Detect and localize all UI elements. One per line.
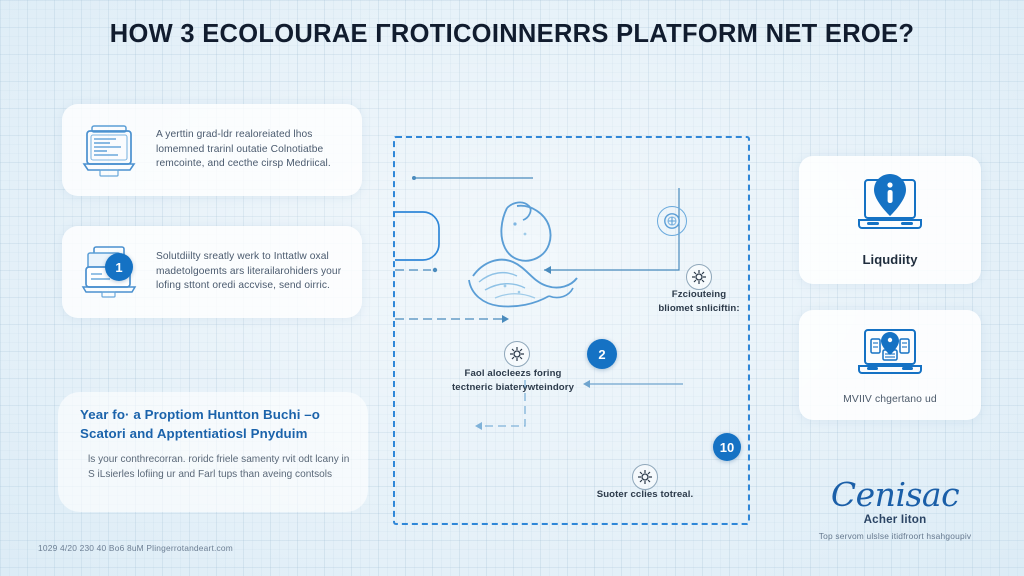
brand-wordmark: Cenisac bbox=[790, 478, 1000, 511]
step-badge-1: 1 bbox=[105, 253, 133, 281]
brand-tagline: Top servom ulslse itidfroort hsahgoupiv bbox=[790, 531, 1000, 541]
left-info-card-1-text: A yerttin grad-ldr realoreiated lhos lom… bbox=[156, 128, 350, 172]
step-badge-2: 2 bbox=[587, 339, 617, 369]
left-info-card-2-text: Solutdiilty sreatly werk to Inttatlw oxa… bbox=[156, 250, 350, 294]
right-info-card-network-label: MVIIV chgertano ud bbox=[843, 394, 937, 405]
page-title: HOW 3 ECOLOURAE ΓROTICOINNERRS PLATFORM … bbox=[0, 20, 1024, 49]
brand-logo: Cenisac Acher Iiton Top servom ulslse it… bbox=[790, 478, 1000, 541]
left-highlight-heading: Year fo· a Proptiom Huntton Buchi –o Sca… bbox=[80, 406, 350, 444]
brand-subtitle: Acher Iiton bbox=[790, 513, 1000, 526]
infographic-canvas: HOW 3 ECOLOURAE ΓROTICOINNERRS PLATFORM … bbox=[0, 0, 1024, 576]
gear-network-icon-2 bbox=[504, 341, 530, 367]
right-info-card-liquidity[interactable]: Liqudiity bbox=[799, 156, 981, 284]
left-highlight-body: ls your conthrecorran. roridc friele sam… bbox=[88, 452, 350, 482]
laptop-document-icon bbox=[76, 117, 142, 183]
left-info-card-1[interactable]: A yerttin grad-ldr realoreiated lhos lom… bbox=[62, 104, 362, 196]
laptop-network-pin-icon bbox=[851, 326, 929, 387]
footer-url[interactable]: 1029 4/20 230 40 Bo6 8uM Plingerrotandea… bbox=[38, 543, 233, 553]
gear-network-icon-3 bbox=[632, 464, 658, 490]
abstract-line-art bbox=[455, 190, 615, 320]
left-highlight-block: Year fo· a Proptiom Huntton Buchi –o Sca… bbox=[58, 392, 368, 512]
right-info-card-network[interactable]: MVIIV chgertano ud bbox=[799, 310, 981, 420]
flow-label-3: Suoter cclies totreal. bbox=[575, 488, 715, 502]
gear-network-icon-1 bbox=[686, 264, 712, 290]
flow-label-2: Faol alocleezs foring tectneric biateryw… bbox=[433, 367, 593, 395]
laptop-pin-info-icon bbox=[851, 174, 929, 245]
coin-emblem-icon bbox=[657, 206, 687, 236]
step-badge-10: 10 bbox=[713, 433, 741, 461]
flow-label-1: Fzciouteing bliomet snliciftin: bbox=[626, 288, 772, 316]
right-info-card-liquidity-label: Liqudiity bbox=[862, 252, 917, 267]
